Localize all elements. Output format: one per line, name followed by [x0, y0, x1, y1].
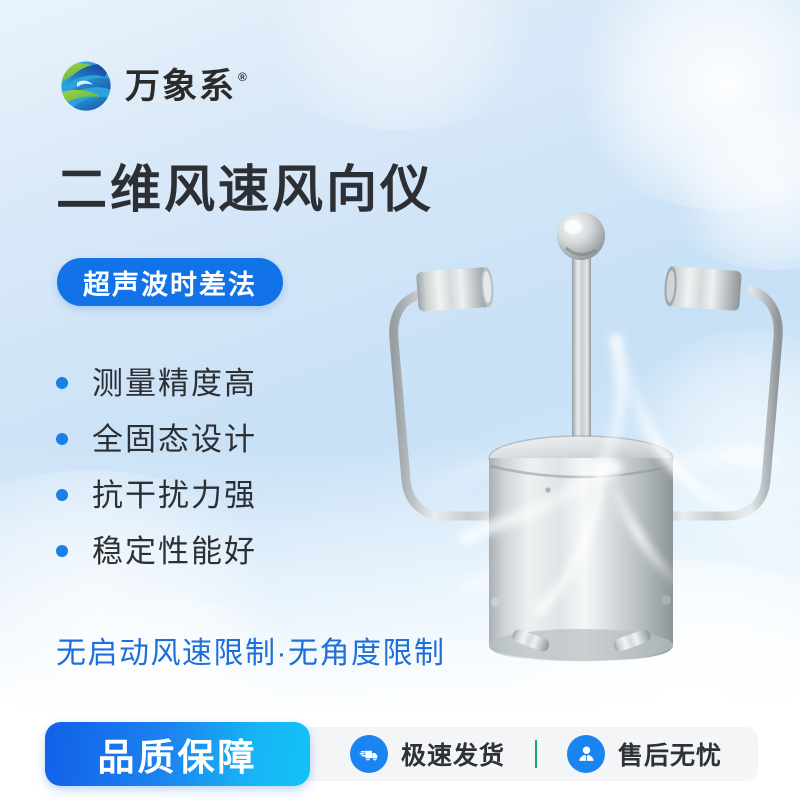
service-divider: [535, 740, 537, 768]
service-label: 售后无忧: [618, 736, 722, 772]
service-strip: 极速发货 售后无忧: [288, 727, 758, 781]
quality-guarantee-label: 品质保障: [98, 727, 258, 781]
feature-label: 稳定性能好: [92, 536, 257, 567]
technology-badge-label: 超声波时差法: [83, 263, 257, 302]
bullet-dot-icon: [56, 433, 68, 445]
cloud-blob: [560, 0, 800, 210]
technology-badge: 超声波时差法: [57, 258, 283, 306]
delivery-truck-glyph: [358, 743, 381, 766]
feature-list: 测量精度高 全固态设计 抗干扰力强 稳定性能好: [56, 355, 257, 579]
customer-service-person-icon: [567, 735, 605, 773]
delivery-truck-icon: [350, 735, 388, 773]
feature-label: 抗干扰力强: [92, 480, 257, 511]
bullet-dot-icon: [56, 545, 68, 557]
feature-label: 测量精度高: [92, 368, 257, 399]
list-item: 稳定性能好: [56, 523, 257, 579]
bullet-dot-icon: [56, 489, 68, 501]
bullet-dot-icon: [56, 377, 68, 389]
brand-name: 万象系: [125, 69, 236, 104]
footer-bar: 极速发货 售后无忧 品质保障: [0, 722, 800, 786]
tagline: 无启动风速限制·无角度限制: [56, 628, 446, 672]
page-title: 二维风速风向仪: [56, 162, 434, 218]
service-label: 极速发货: [401, 736, 505, 772]
cloud-blob: [250, 0, 550, 130]
quality-guarantee-badge: 品质保障: [45, 722, 310, 786]
service-item-aftersales: 售后无忧: [567, 735, 722, 773]
cloud-blob: [660, 110, 800, 270]
list-item: 全固态设计: [56, 411, 257, 467]
brand-logo: 万象系 ®: [58, 58, 247, 114]
product-poster: 万象系 ® 二维风速风向仪 超声波时差法 测量精度高 全固态设计 抗干扰力强 稳…: [0, 0, 800, 800]
cloud-blob: [620, 330, 800, 550]
cloud-blob: [470, 560, 800, 706]
registered-trademark-mark: ®: [238, 71, 247, 83]
feature-label: 全固态设计: [92, 424, 257, 455]
globe-swirl-logo-icon: [58, 58, 114, 114]
person-glyph: [575, 743, 598, 766]
list-item: 抗干扰力强: [56, 467, 257, 523]
list-item: 测量精度高: [56, 355, 257, 411]
service-item-shipping: 极速发货: [350, 735, 505, 773]
